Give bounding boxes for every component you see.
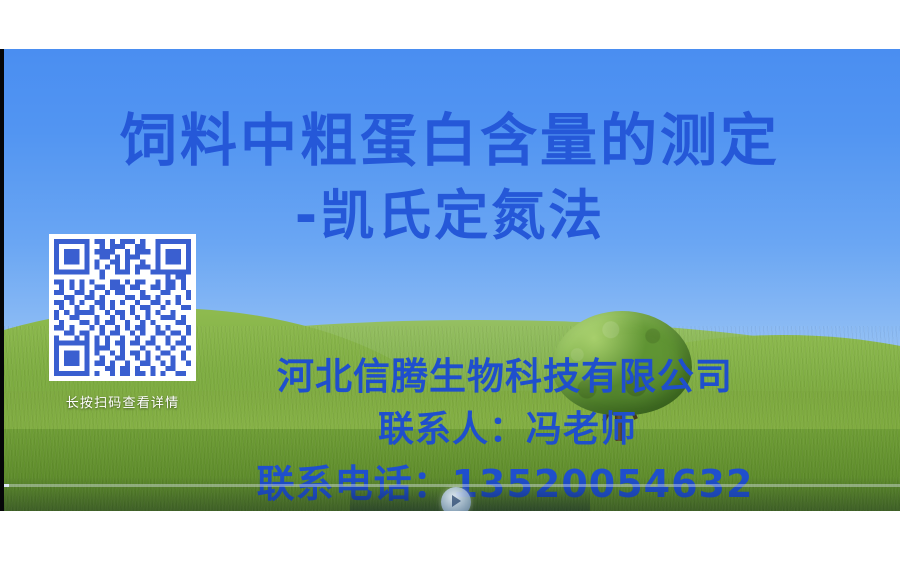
pillarbox-left xyxy=(0,49,4,511)
play-badge-icon[interactable] xyxy=(441,487,471,511)
slide-title-line-2: -凯氏定氮法 xyxy=(0,189,900,243)
slide-title-line-1: 饲料中粗蛋白含量的测定 xyxy=(0,113,900,170)
player-controls[interactable] xyxy=(0,477,900,511)
progress-track[interactable] xyxy=(0,484,900,487)
contact-person: 联系人：冯老师 xyxy=(0,412,900,448)
page-root: 饲料中粗蛋白含量的测定 -凯氏定氮法 河北信腾生物科技有限公司 联系人：冯老师 … xyxy=(0,0,900,561)
video-slide-stage[interactable]: 饲料中粗蛋白含量的测定 -凯氏定氮法 河北信腾生物科技有限公司 联系人：冯老师 … xyxy=(0,49,900,511)
blank-area-bottom xyxy=(0,511,900,561)
blank-area-top xyxy=(0,0,900,49)
company-name: 河北信腾生物科技有限公司 xyxy=(0,358,900,395)
